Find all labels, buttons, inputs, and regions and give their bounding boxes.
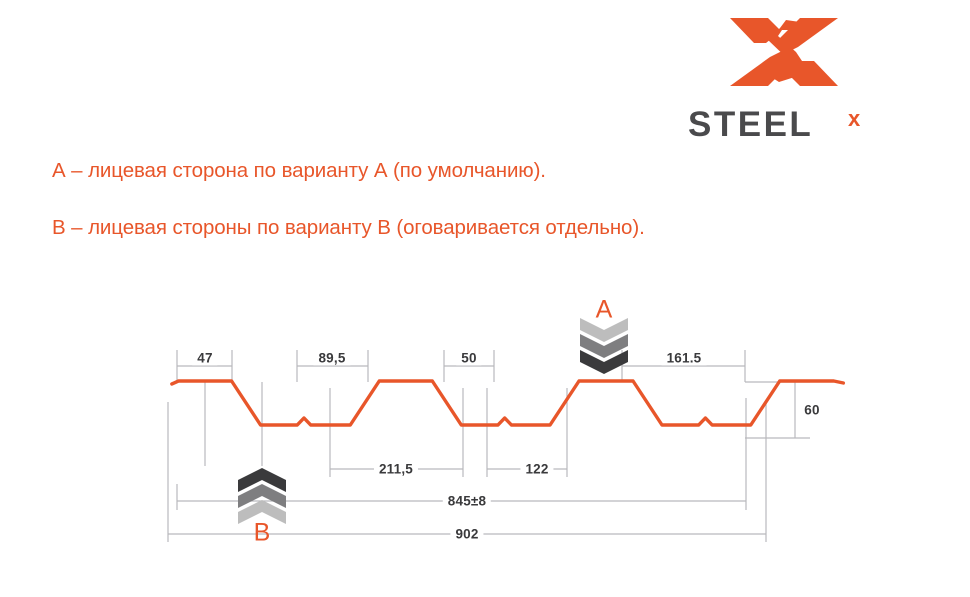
brand-wordmark: STEEL x (688, 104, 888, 146)
corrugated-profile-line (172, 381, 844, 425)
dim-label-47: 47 (192, 351, 217, 366)
dim-label-845: 845±8 (443, 494, 491, 509)
caption-variant-b: В – лицевая стороны по варианту В (огова… (52, 216, 645, 240)
dim-label-902: 902 (450, 527, 483, 542)
side-marker-a-chevrons (580, 318, 628, 374)
dimension-lines-group (168, 350, 810, 542)
caption-variant-a: А – лицевая сторона по варианту А (по ум… (52, 159, 546, 183)
side-marker-b-label: В (254, 519, 271, 548)
dim-label-122: 122 (520, 462, 553, 477)
profile-technical-drawing: 47 89,5 50 161.5 211,5 122 845±8 902 60 … (0, 270, 970, 570)
steelx-x-logo-icon (728, 14, 840, 90)
dim-label-50: 50 (456, 351, 481, 366)
dim-label-211-5: 211,5 (374, 462, 418, 477)
dim-label-161-5: 161.5 (662, 351, 707, 366)
dim-label-89-5: 89,5 (313, 351, 350, 366)
side-marker-a-label: А (596, 296, 613, 325)
side-marker-b-chevrons (238, 468, 286, 524)
brand-logo: STEEL x (688, 14, 888, 144)
brand-superscript-text: x (848, 106, 861, 131)
dim-label-60: 60 (799, 403, 824, 418)
brand-name-text: STEEL (688, 105, 813, 144)
